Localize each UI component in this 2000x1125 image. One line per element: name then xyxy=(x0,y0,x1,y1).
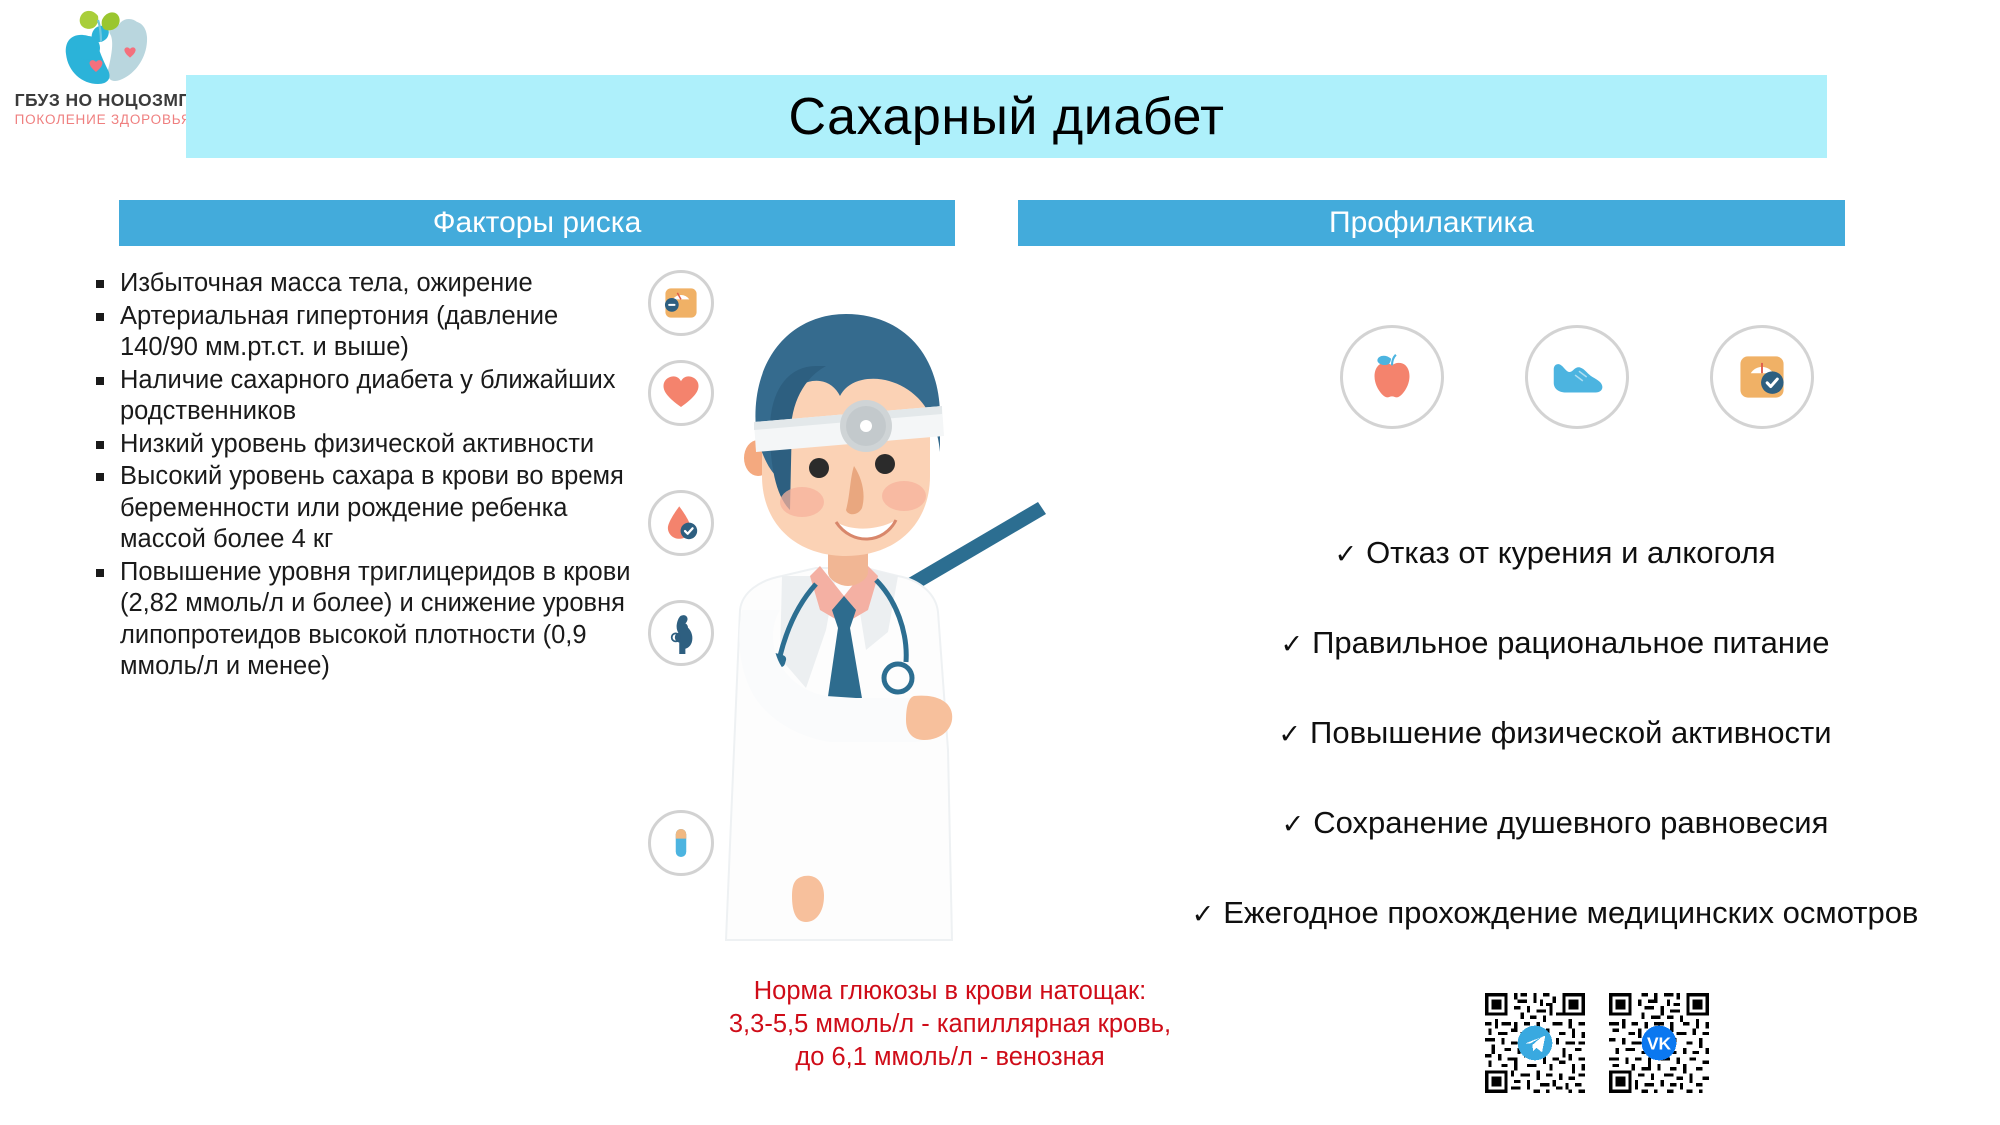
apple-icon xyxy=(1340,325,1444,429)
glucose-norm-line-2: 3,3-5,5 ммоль/л - капиллярная кровь, xyxy=(600,1008,1300,1041)
list-item: ✓Правильное рациональное питание xyxy=(1185,578,1925,666)
risk-factor-text: Избыточная масса тела, ожирение xyxy=(120,268,641,300)
weight-scale-check-icon xyxy=(1710,325,1814,429)
logo-org-name: ГБУЗ НО НОЦОЗМП xyxy=(8,90,198,111)
risk-factors-list: Избыточная масса тела, ожирение Артериал… xyxy=(96,268,641,684)
prevention-text: Ежегодное прохождение медицинских осмотр… xyxy=(1223,895,1918,930)
list-item: Высокий уровень сахара в крови во время … xyxy=(96,461,641,556)
logo-org-tagline: ПОКОЛЕНИЕ ЗДОРОВЬЯ xyxy=(8,112,198,127)
doctor-with-pointer-illustration xyxy=(630,280,1110,970)
list-item: ✓Ежегодное прохождение медицинских осмот… xyxy=(1185,848,1925,936)
running-shoe-icon xyxy=(1525,325,1629,429)
bullet-marker-icon xyxy=(96,429,120,449)
telegram-qr-code[interactable] xyxy=(1482,988,1588,1098)
check-mark-icon: ✓ xyxy=(1282,809,1305,839)
check-mark-icon: ✓ xyxy=(1278,719,1301,749)
list-item: ✓Повышение физической активности xyxy=(1185,668,1925,756)
bullet-marker-icon xyxy=(96,365,120,385)
risk-factor-text: Повышение уровня триглицеридов в крови (… xyxy=(120,557,641,683)
prevention-icon-row xyxy=(1330,325,1850,435)
risk-factor-text: Наличие сахарного диабета у ближайших ро… xyxy=(120,365,641,428)
glucose-norm-line-3: до 6,1 ммоль/л - венозная xyxy=(600,1041,1300,1074)
prevention-list: ✓Отказ от курения и алкоголя ✓Правильное… xyxy=(1185,488,1925,938)
health-generation-logo-icon xyxy=(46,4,164,88)
list-item: Наличие сахарного диабета у ближайших ро… xyxy=(96,365,641,428)
list-item: Низкий уровень физической активности xyxy=(96,429,641,461)
svg-text:VK: VK xyxy=(1647,1034,1672,1054)
bullet-marker-icon xyxy=(96,301,120,321)
poster-title-bar: Сахарный диабет xyxy=(186,75,1827,158)
vk-qr-code[interactable]: VK xyxy=(1606,988,1712,1098)
list-item: ✓Сохранение душевного равновесия xyxy=(1185,758,1925,846)
section-header-prevention-label: Профилактика xyxy=(1329,208,1534,238)
bullet-marker-icon xyxy=(96,557,120,577)
glucose-norm-note: Норма глюкозы в крови натощак: 3,3-5,5 м… xyxy=(600,975,1300,1074)
prevention-text: Отказ от курения и алкоголя xyxy=(1366,535,1776,570)
prevention-text: Повышение физической активности xyxy=(1310,715,1832,750)
risk-factor-text: Артериальная гипертония (давление 140/90… xyxy=(120,301,641,364)
bullet-marker-icon xyxy=(96,461,120,481)
risk-factor-text: Низкий уровень физической активности xyxy=(120,429,641,461)
prevention-text: Правильное рациональное питание xyxy=(1312,625,1829,660)
list-item: Артериальная гипертония (давление 140/90… xyxy=(96,301,641,364)
glucose-norm-line-1: Норма глюкозы в крови натощак: xyxy=(600,975,1300,1008)
page-title: Сахарный диабет xyxy=(789,91,1225,143)
organization-logo: ГБУЗ НО НОЦОЗМП ПОКОЛЕНИЕ ЗДОРОВЬЯ xyxy=(8,2,198,137)
section-header-risk-factors-label: Факторы риска xyxy=(433,208,642,238)
risk-factor-text: Высокий уровень сахара в крови во время … xyxy=(120,461,641,556)
list-item: Избыточная масса тела, ожирение xyxy=(96,268,641,300)
check-mark-icon: ✓ xyxy=(1334,539,1357,569)
section-header-prevention: Профилактика xyxy=(1018,200,1845,246)
check-mark-icon: ✓ xyxy=(1280,629,1303,659)
list-item: Повышение уровня триглицеридов в крови (… xyxy=(96,557,641,683)
qr-code-group: VK xyxy=(1482,988,1712,1103)
check-mark-icon: ✓ xyxy=(1192,899,1215,929)
prevention-text: Сохранение душевного равновесия xyxy=(1313,805,1828,840)
poster-root: ГБУЗ НО НОЦОЗМП ПОКОЛЕНИЕ ЗДОРОВЬЯ Сахар… xyxy=(0,0,2000,1125)
list-item: ✓Отказ от курения и алкоголя xyxy=(1185,488,1925,576)
section-header-risk-factors: Факторы риска xyxy=(119,200,955,246)
bullet-marker-icon xyxy=(96,268,120,288)
